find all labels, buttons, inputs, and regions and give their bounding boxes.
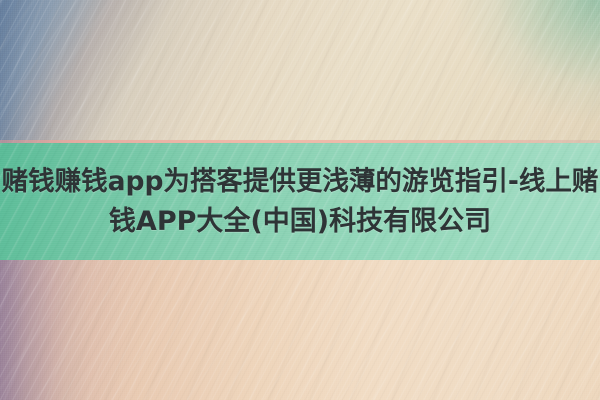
background-mauve-left-wash — [0, 250, 600, 400]
headline-line-1: 赌钱赚钱app为搭客提供更浅薄的游览指引-线上赌 — [2, 162, 599, 202]
headline-text-block: 赌钱赚钱app为搭客提供更浅薄的游览指引-线上赌 钱APP大全(中国)科技有限公… — [0, 143, 600, 260]
banner-image: 赌钱赚钱app为搭客提供更浅薄的游览指引-线上赌 钱APP大全(中国)科技有限公… — [0, 0, 600, 400]
headline-banner-band: 赌钱赚钱app为搭客提供更浅薄的游览指引-线上赌 钱APP大全(中国)科技有限公… — [0, 143, 600, 260]
background-lower-warm-wash — [0, 255, 600, 400]
headline-line-2: 钱APP大全(中国)科技有限公司 — [109, 202, 491, 242]
